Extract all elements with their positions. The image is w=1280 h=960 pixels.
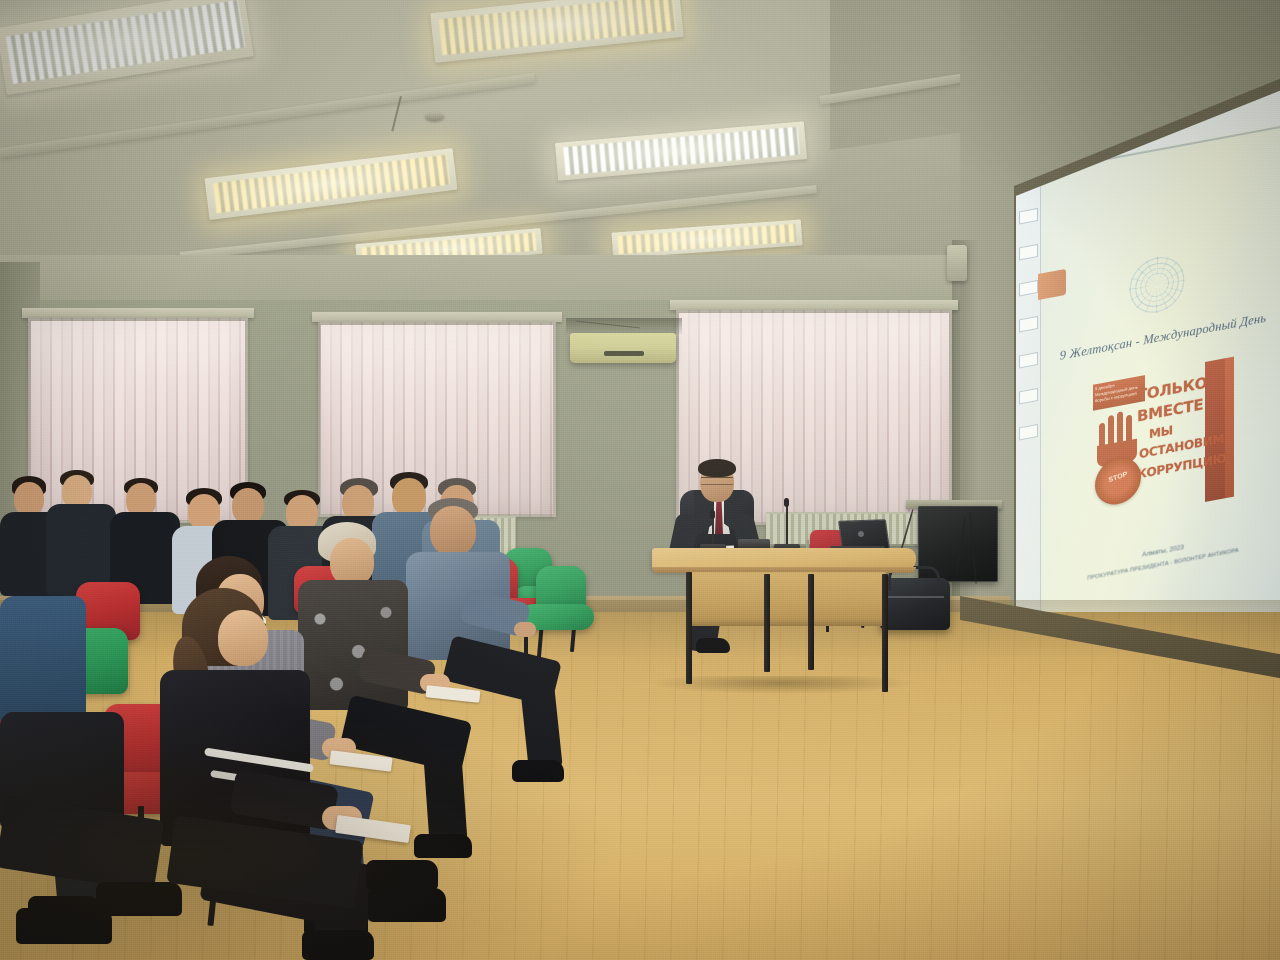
desk-leg-3: [808, 574, 814, 670]
blinds-right-headrail: [670, 300, 958, 310]
poster-red-bar-2: [1225, 357, 1234, 499]
presenter-desk: [652, 548, 916, 688]
slide-thumbnail-6[interactable]: [1019, 352, 1038, 369]
blinds-left-headrail: [22, 308, 254, 318]
slide-thumbnail-7[interactable]: [1019, 388, 1038, 405]
head: [218, 610, 268, 666]
slide-thumbnail-5[interactable]: [1019, 316, 1038, 333]
microphone-right-stem: [786, 504, 788, 548]
head: [14, 482, 44, 516]
laptop-logo: [858, 531, 864, 537]
slide-content: 9 Желтоқсан - Международный День 9 декаб…: [1043, 126, 1280, 670]
desk-front-panel: [686, 572, 886, 626]
slide-title: 9 Желтоқсан - Международный День: [1053, 309, 1273, 365]
wall-speaker: [947, 245, 967, 281]
slide-thumbnail-2[interactable]: [1019, 208, 1038, 225]
presenter-hair: [698, 459, 736, 477]
air-conditioner: [570, 333, 676, 363]
smoke-detector-icon: [425, 112, 444, 121]
blinds-center-headrail: [312, 312, 562, 322]
microphone-right-head: [784, 498, 789, 507]
projection-screen: 9 Желтоқсан - Международный День 9 декаб…: [1000, 78, 1280, 688]
conference-room-photo: 9 Желтоқсан - Международный День 9 декаб…: [0, 0, 1280, 960]
un-emblem-icon: [1129, 252, 1185, 318]
poster-red-bar: [1205, 358, 1225, 502]
microphone-left-head: [710, 510, 715, 519]
anti-corruption-poster: 9 декабря Международный день борьбы с ко…: [1087, 356, 1237, 524]
desk-leg-4: [882, 574, 888, 692]
audience-floor-shadow: [0, 700, 620, 960]
air-conditioner-vent: [604, 351, 644, 356]
desk-leg-2: [764, 574, 770, 672]
slide-thumbnail-8[interactable]: [1019, 424, 1038, 441]
slide-thumbnail-4[interactable]: [1019, 280, 1038, 297]
glasses-icon: [701, 477, 733, 485]
poster-word-2: МЫ: [1149, 423, 1173, 441]
slide-thumbnail-3[interactable]: [1019, 244, 1038, 261]
desk-leg-1: [686, 572, 692, 684]
hand: [514, 622, 536, 637]
slide-thumbnail-panel[interactable]: [1016, 159, 1041, 634]
head: [232, 488, 264, 524]
